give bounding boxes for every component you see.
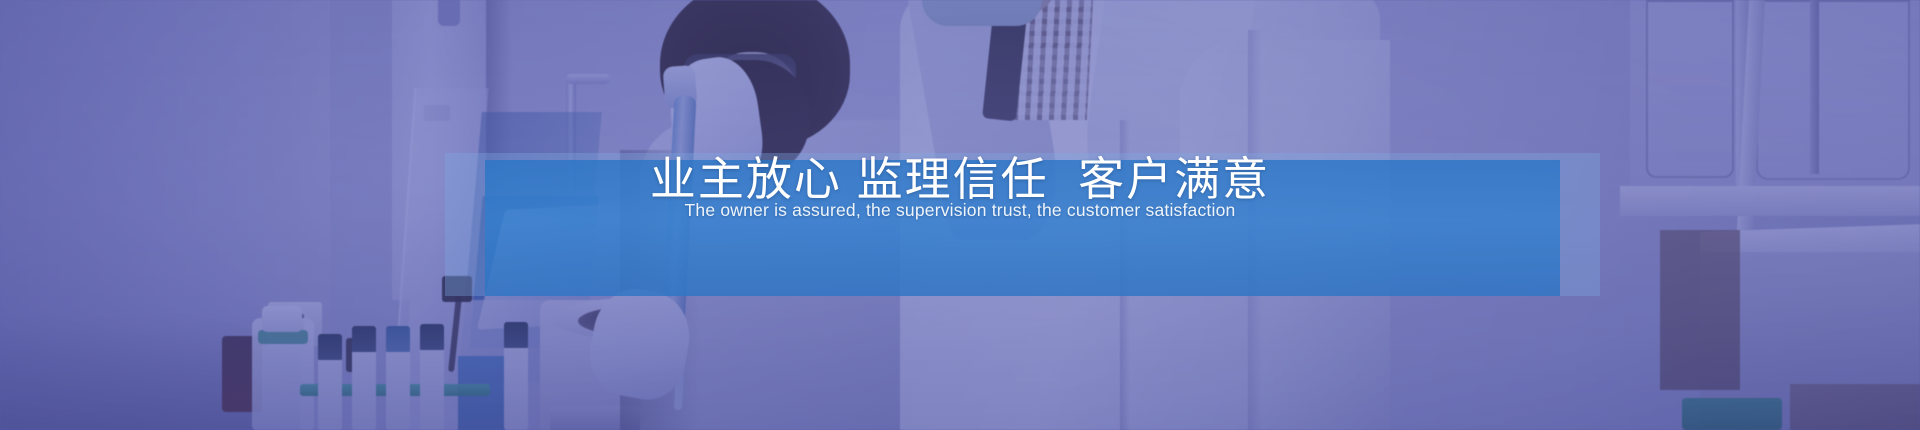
hero-banner: 业主放心 监理信任 客户满意 The owner is assured, the… (0, 0, 1920, 430)
banner-headline: 业主放心 监理信任 客户满意 (0, 152, 1920, 206)
banner-subtitle: The owner is assured, the supervision tr… (0, 200, 1920, 221)
